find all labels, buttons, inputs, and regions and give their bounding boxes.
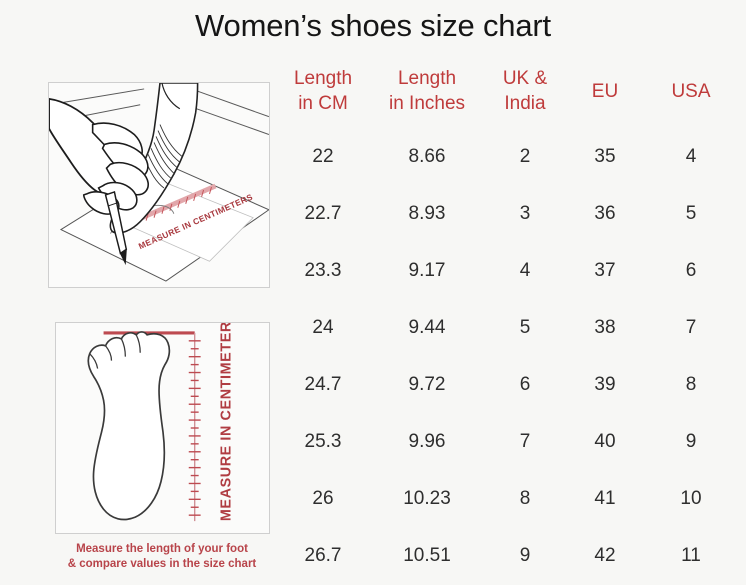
header-inches-line-1: Length	[372, 66, 482, 91]
cell-usa: 11	[642, 527, 740, 584]
illustration-column: MEASURE IN CENTIMETERS	[46, 80, 274, 580]
cell-usa: 8	[642, 356, 740, 413]
header-cm-line-2: in CM	[274, 91, 372, 116]
cell-length-cm: 26	[274, 470, 372, 527]
cell-length-inches: 10.23	[372, 470, 482, 527]
cell-length-cm: 23.3	[274, 242, 372, 299]
cell-eu: 41	[568, 470, 642, 527]
cell-uk-india: 3	[482, 185, 568, 242]
cell-eu: 37	[568, 242, 642, 299]
column-header-eu: EU	[568, 66, 642, 128]
column-header-length-cm: Length in CM	[274, 66, 372, 128]
cell-uk-india: 6	[482, 356, 568, 413]
table-row: 2610.2384110	[274, 470, 740, 527]
cell-usa: 6	[642, 242, 740, 299]
table-row: 228.662354	[274, 128, 740, 185]
cell-length-inches: 9.44	[372, 299, 482, 356]
header-uk-line-1: UK &	[482, 66, 568, 91]
header-row: Length in CM Length in Inches UK & India…	[274, 66, 740, 128]
tracing-illustration-svg: MEASURE IN CENTIMETERS	[49, 83, 269, 287]
column-header-uk-india: UK & India	[482, 66, 568, 128]
cell-length-cm: 22	[274, 128, 372, 185]
cell-usa: 7	[642, 299, 740, 356]
table-body: 228.66235422.78.93336523.39.174376249.44…	[274, 128, 740, 584]
cell-usa: 4	[642, 128, 740, 185]
page-title: Women’s shoes size chart	[0, 8, 746, 44]
foot-outline-svg: MEASURE IN CENTIMETERS	[56, 323, 269, 533]
size-chart-page: Women’s shoes size chart	[0, 0, 746, 585]
header-uk-line-2: India	[482, 91, 568, 116]
cell-length-inches: 8.93	[372, 185, 482, 242]
cell-length-inches: 8.66	[372, 128, 482, 185]
cell-uk-india: 2	[482, 128, 568, 185]
cell-eu: 40	[568, 413, 642, 470]
cell-uk-india: 4	[482, 242, 568, 299]
header-inches-line-2: in Inches	[372, 91, 482, 116]
cell-usa: 9	[642, 413, 740, 470]
cell-eu: 36	[568, 185, 642, 242]
cell-length-inches: 9.72	[372, 356, 482, 413]
table-row: 25.39.967409	[274, 413, 740, 470]
cell-usa: 10	[642, 470, 740, 527]
cell-uk-india: 5	[482, 299, 568, 356]
size-table-container: Length in CM Length in Inches UK & India…	[274, 66, 740, 576]
ruler-label-foot: MEASURE IN CENTIMETERS	[218, 323, 234, 521]
measurement-caption: Measure the length of your foot & compar…	[46, 542, 278, 572]
table-row: 24.79.726398	[274, 356, 740, 413]
table-row: 23.39.174376	[274, 242, 740, 299]
cell-uk-india: 9	[482, 527, 568, 584]
header-cm-line-1: Length	[274, 66, 372, 91]
table-row: 26.710.5194211	[274, 527, 740, 584]
cell-length-inches: 10.51	[372, 527, 482, 584]
column-header-length-inches: Length in Inches	[372, 66, 482, 128]
cell-eu: 38	[568, 299, 642, 356]
size-chart-table: Length in CM Length in Inches UK & India…	[274, 66, 740, 584]
cell-uk-india: 7	[482, 413, 568, 470]
cell-usa: 5	[642, 185, 740, 242]
cell-length-cm: 22.7	[274, 185, 372, 242]
tracing-illustration-panel: MEASURE IN CENTIMETERS	[48, 82, 270, 288]
column-header-usa: USA	[642, 66, 740, 128]
cell-uk-india: 8	[482, 470, 568, 527]
cell-length-inches: 9.96	[372, 413, 482, 470]
cell-length-cm: 24	[274, 299, 372, 356]
caption-line-1: Measure the length of your foot	[76, 543, 248, 555]
header-eu-line-1: EU	[568, 79, 642, 104]
cell-length-cm: 26.7	[274, 527, 372, 584]
foot-outline-panel: MEASURE IN CENTIMETERS	[55, 322, 270, 534]
cell-length-cm: 24.7	[274, 356, 372, 413]
cell-eu: 42	[568, 527, 642, 584]
caption-line-2: & compare values in the size chart	[68, 558, 257, 570]
cell-length-cm: 25.3	[274, 413, 372, 470]
header-usa-line-1: USA	[642, 79, 740, 104]
cell-length-inches: 9.17	[372, 242, 482, 299]
cell-eu: 39	[568, 356, 642, 413]
table-row: 22.78.933365	[274, 185, 740, 242]
table-row: 249.445387	[274, 299, 740, 356]
cell-eu: 35	[568, 128, 642, 185]
table-header: Length in CM Length in Inches UK & India…	[274, 66, 740, 128]
